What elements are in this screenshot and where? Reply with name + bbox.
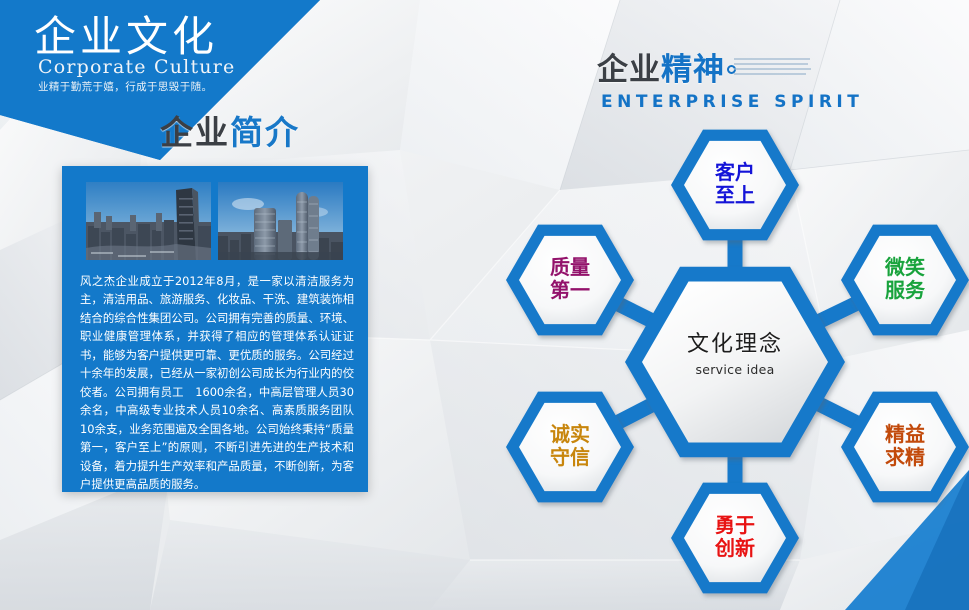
hexagon-excellence[interactable]: [841, 392, 969, 503]
enterprise-spirit-heading: 企业精神 ENTERPRISE SPIRIT: [597, 55, 863, 112]
company-profile-card: 风之杰企业成立于2012年8月，是一家以清洁服务为主，清洁用品、旅游服务、化妆品…: [62, 166, 368, 492]
banner-tagline: 业精于勤荒于嬉，行成于思毁于随。: [38, 82, 212, 93]
intro-heading-dark: 企业: [160, 113, 230, 152]
company-intro-heading: 企业简介: [160, 116, 300, 149]
banner-title-en: Corporate Culture: [38, 58, 235, 77]
banner-title-cn: 企业文化: [34, 16, 218, 58]
hexagon-integrity[interactable]: [506, 392, 634, 503]
decorative-text-lines: [734, 58, 812, 88]
spirit-title-cn-row: 企业精神: [597, 55, 863, 86]
spirit-heading-dark: 企业: [597, 52, 661, 88]
hexagon-quality-first[interactable]: [506, 225, 634, 336]
spirit-heading-en: ENTERPRISE SPIRIT: [601, 92, 863, 112]
intro-heading-blue: 简介: [230, 113, 300, 152]
hexagon-innovation[interactable]: [671, 483, 799, 594]
hexagon-diagram-svg: [470, 110, 969, 610]
cityscape-photo-right: [218, 182, 343, 260]
culture-hexagon-diagram: 文化理念service idea客户至上微笑服务精益求精勇于创新诚实守信质量第一: [470, 110, 969, 610]
center-hexagon[interactable]: [625, 267, 845, 458]
hexagon-smile-service[interactable]: [841, 225, 969, 336]
card-photo-row: [86, 182, 344, 260]
company-profile-text: 风之杰企业成立于2012年8月，是一家以清洁服务为主，清洁用品、旅游服务、化妆品…: [80, 272, 354, 494]
cityscape-photo-left: [86, 182, 211, 260]
spirit-heading-blue: 精神: [661, 52, 725, 88]
hexagon-customer-first[interactable]: [671, 130, 799, 241]
